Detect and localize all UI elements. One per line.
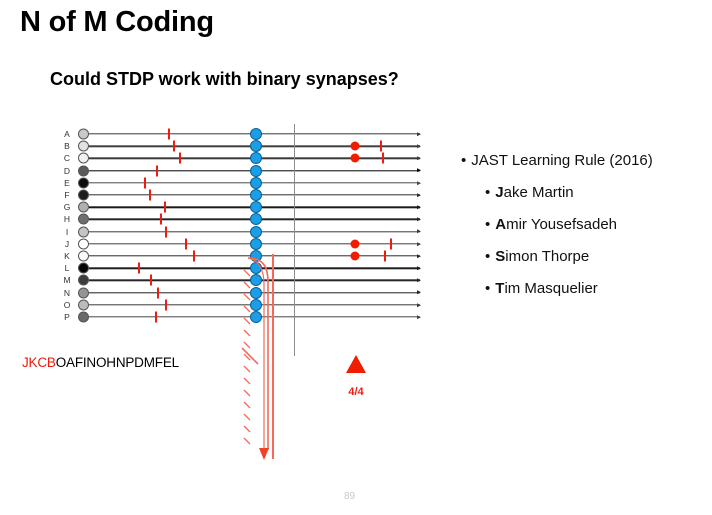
raster-row: A [60, 128, 420, 140]
spike-tick [160, 214, 162, 225]
neuron-node-icon [78, 214, 89, 225]
spike-tick [144, 177, 146, 188]
output-spike-dot [351, 252, 360, 261]
author-list: •Jake Martin•Amir Yousefsadeh•Simon Thor… [461, 184, 706, 297]
raster-row: I [60, 226, 420, 238]
raster-row-label: I [60, 227, 74, 236]
input-node-icon [250, 177, 262, 189]
raster-row: F [60, 189, 420, 201]
raster-row: J [60, 238, 420, 250]
author-name: imon Thorpe [505, 248, 589, 265]
bullet-item-author: •Jake Martin [485, 184, 706, 201]
bullet-item-author: •Simon Thorpe [485, 248, 706, 265]
spike-tick [193, 251, 195, 262]
axis-arrow-icon [417, 266, 421, 270]
spike-tick [164, 202, 166, 213]
axis-arrow-icon [417, 303, 421, 307]
author-name: ake Martin [504, 184, 574, 201]
axis-arrow-icon [417, 254, 421, 258]
raster-row-label: G [60, 203, 74, 212]
raster-row: M [60, 274, 420, 286]
neuron-node-icon [78, 226, 89, 237]
raster-row: L [60, 262, 420, 274]
bullet-list: •JAST Learning Rule (2016) •Jake Martin•… [461, 152, 706, 312]
spike-tick [185, 238, 187, 249]
input-node-icon [250, 262, 262, 274]
spike-tick [179, 153, 181, 164]
raster-row-label: J [60, 240, 74, 249]
input-node-icon [250, 287, 262, 299]
neuron-node-icon [78, 251, 89, 262]
neuron-node-icon [78, 165, 89, 176]
author-initial: J [495, 184, 503, 201]
raster-row: B [60, 140, 420, 152]
raster-row-label: H [60, 215, 74, 224]
neuron-node-icon [78, 312, 89, 323]
axis-arrow-icon [417, 242, 421, 246]
neuron-node-icon [78, 141, 89, 152]
spike-tick-secondary [390, 238, 392, 249]
axis-arrow-icon [417, 169, 421, 173]
triangle-up-icon [346, 355, 366, 373]
spike-tick [173, 141, 175, 152]
neuron-node-icon [78, 177, 89, 188]
raster-row-label: A [60, 130, 74, 139]
axis-arrow-icon [417, 278, 421, 282]
axis-arrow-icon [417, 144, 421, 148]
author-name: mir Yousefsadeh [506, 216, 617, 233]
input-node-icon [250, 311, 262, 323]
spike-tick [150, 275, 152, 286]
axis-arrow-icon [417, 181, 421, 185]
author-name: im Masquelier [504, 280, 597, 297]
neuron-node-icon [78, 129, 89, 140]
raster-row: N [60, 287, 420, 299]
raster-plot: PONMLKJIHGFEDCBA [60, 128, 420, 328]
author-initial: S [495, 248, 505, 265]
slide-subtitle: Could STDP work with binary synapses? [50, 69, 399, 90]
bullet-item-author: •Tim Masquelier [485, 280, 706, 297]
input-node-icon [250, 226, 262, 238]
bullet-dot-icon: • [485, 248, 490, 265]
page-number: 89 [344, 491, 355, 502]
readout-fraction-label: 4/4 [330, 386, 382, 398]
raster-row: P [60, 311, 420, 323]
input-node-icon [250, 213, 262, 225]
author-initial: A [495, 216, 506, 233]
bullet-dot-icon: • [485, 280, 490, 297]
spike-tick [156, 165, 158, 176]
raster-row-label: F [60, 191, 74, 200]
bullet-main-label: JAST Learning Rule (2016) [471, 152, 653, 169]
spike-tick [168, 129, 170, 140]
axis-arrow-icon [417, 132, 421, 136]
spike-tick [165, 226, 167, 237]
spike-tick-secondary [382, 153, 384, 164]
output-spike-dot [351, 154, 360, 163]
raster-row-label: D [60, 166, 74, 175]
raster-row-label: P [60, 313, 74, 322]
bullet-dot-icon: • [485, 184, 490, 201]
neuron-node-icon [78, 299, 89, 310]
neuron-node-icon [78, 287, 89, 298]
raster-row-label: N [60, 288, 74, 297]
raster-row: K [60, 250, 420, 262]
spike-tick-secondary [380, 141, 382, 152]
axis-arrow-icon [417, 193, 421, 197]
neuron-node-icon [78, 275, 89, 286]
output-spike-dot [351, 239, 360, 248]
raster-row-label: O [60, 301, 74, 310]
spike-tick-secondary [384, 251, 386, 262]
input-node-icon [250, 299, 262, 311]
output-spike-dot [351, 142, 360, 151]
raster-row-label: E [60, 179, 74, 188]
sequence-rest: OAFINOHNPDMFEL [56, 355, 179, 370]
axis-arrow-icon [417, 156, 421, 160]
raster-row: G [60, 201, 420, 213]
bullet-dot-icon: • [485, 216, 490, 233]
spike-tick [149, 190, 151, 201]
axis-arrow-icon [417, 291, 421, 295]
axis-arrow-icon [417, 217, 421, 221]
axis-arrow-icon [417, 205, 421, 209]
input-node-icon [250, 274, 262, 286]
readout-vertical-line [294, 124, 295, 356]
neuron-node-icon [78, 153, 89, 164]
raster-row: E [60, 177, 420, 189]
input-node-icon [250, 128, 262, 140]
raster-row: O [60, 299, 420, 311]
bullet-item-main: •JAST Learning Rule (2016) [461, 152, 706, 169]
input-node-icon [250, 152, 262, 164]
raster-row-label: B [60, 142, 74, 151]
neuron-node-icon [78, 238, 89, 249]
spike-tick [155, 312, 157, 323]
raster-row-label: C [60, 154, 74, 163]
raster-row: H [60, 213, 420, 225]
input-node-icon [250, 201, 262, 213]
axis-arrow-icon [417, 315, 421, 319]
input-node-icon [250, 189, 262, 201]
input-node-icon [250, 250, 262, 262]
bullet-item-author: •Amir Yousefsadeh [485, 216, 706, 233]
input-node-icon [250, 140, 262, 152]
spike-tick [165, 299, 167, 310]
raster-row-label: L [60, 264, 74, 273]
raster-row: D [60, 165, 420, 177]
spike-tick [138, 263, 140, 274]
spike-tick [157, 287, 159, 298]
raster-row-label: M [60, 276, 74, 285]
neuron-node-icon [78, 202, 89, 213]
page-title: N of M Coding [20, 6, 214, 39]
spike-sequence-string: JKCBOAFINOHNPDMFEL [22, 355, 179, 370]
axis-arrow-icon [417, 230, 421, 234]
time-bar [272, 254, 274, 459]
neuron-node-icon [78, 190, 89, 201]
raster-row: C [60, 152, 420, 164]
raster-row-label: K [60, 252, 74, 261]
input-node-icon [250, 238, 262, 250]
neuron-node-icon [78, 263, 89, 274]
bullet-dot-icon: • [461, 152, 466, 169]
input-node-icon [250, 165, 262, 177]
sequence-highlighted: JKCB [22, 355, 56, 370]
